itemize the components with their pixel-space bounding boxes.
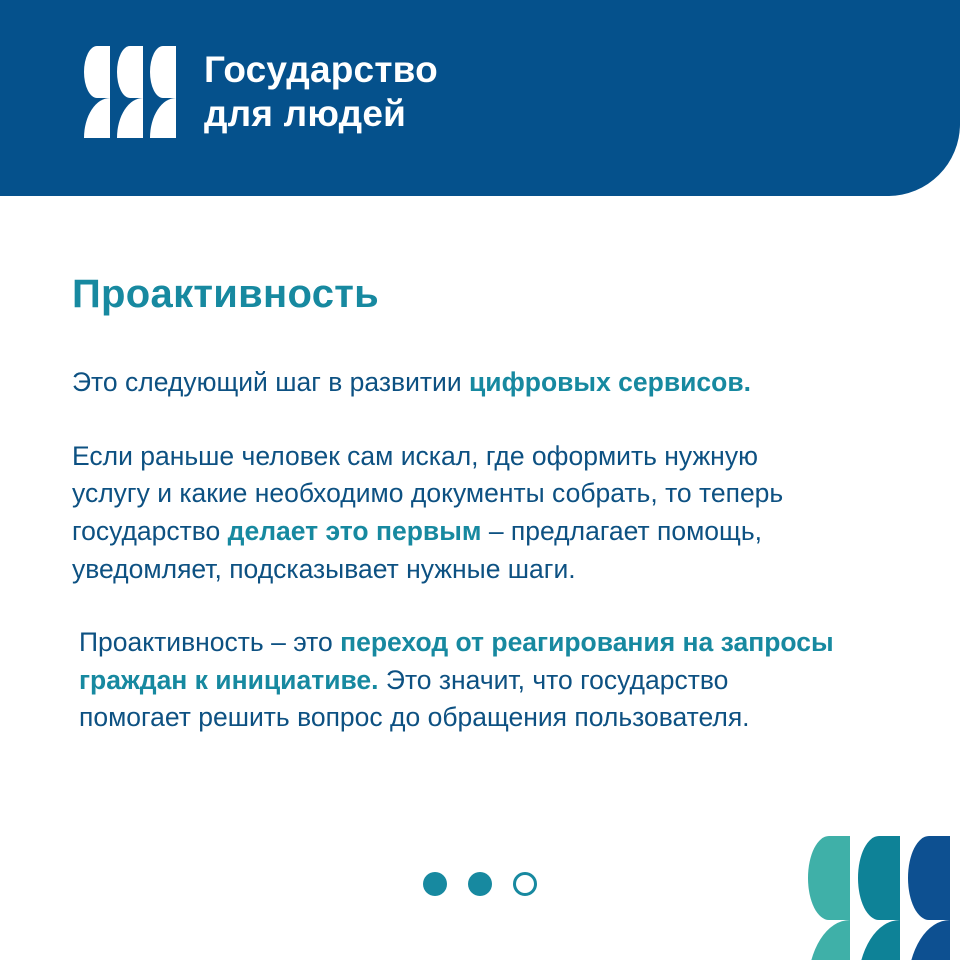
corner-glyph-2 [858, 836, 900, 960]
paragraph-1: Это следующий шаг в развитии цифровых се… [72, 364, 832, 402]
logo-glyph-top [150, 46, 176, 98]
pagination-dot-1[interactable] [423, 872, 447, 896]
corner-glyph-1 [808, 836, 850, 960]
corner-glyph-top [858, 836, 900, 920]
slide-root: Государство для людей Проактивность Это … [0, 0, 960, 960]
corner-glyph-bottom [858, 920, 900, 960]
body-text: Проактивность – это [79, 627, 340, 657]
paragraph-2: Если раньше человек сам искал, где оформ… [72, 438, 832, 589]
logo-glyph-bottom [84, 98, 110, 138]
pagination-dot-3[interactable] [513, 872, 537, 896]
logo-glyph-3 [150, 46, 176, 138]
corner-quotes-logo-icon [808, 836, 960, 960]
brand-title: Государство для людей [204, 48, 438, 135]
corner-glyph-top [808, 836, 850, 920]
accent-text: цифровых сервисов. [469, 367, 751, 397]
paragraph-3: Проактивность – это переход от реагирова… [72, 624, 839, 737]
logo-glyph-bottom [117, 98, 143, 138]
page-title: Проактивность [72, 272, 872, 316]
content-area: Проактивность Это следующий шаг в развит… [72, 272, 872, 737]
logo-glyph-2 [117, 46, 143, 138]
body-text: Это следующий шаг в развитии [72, 367, 469, 397]
corner-glyph-bottom [908, 920, 950, 960]
pagination-dot-2[interactable] [468, 872, 492, 896]
corner-glyph-top [908, 836, 950, 920]
logo-glyph-top [84, 46, 110, 98]
logo-glyph-top [117, 46, 143, 98]
corner-glyph-bottom [808, 920, 850, 960]
brand-lockup: Государство для людей [84, 46, 438, 138]
corner-glyph-3 [908, 836, 950, 960]
logo-glyph-bottom [150, 98, 176, 138]
accent-text: делает это первым [228, 516, 482, 546]
gosuslugi-quotes-logo-icon [84, 46, 176, 138]
logo-glyph-1 [84, 46, 110, 138]
header-bar: Государство для людей [0, 0, 960, 196]
